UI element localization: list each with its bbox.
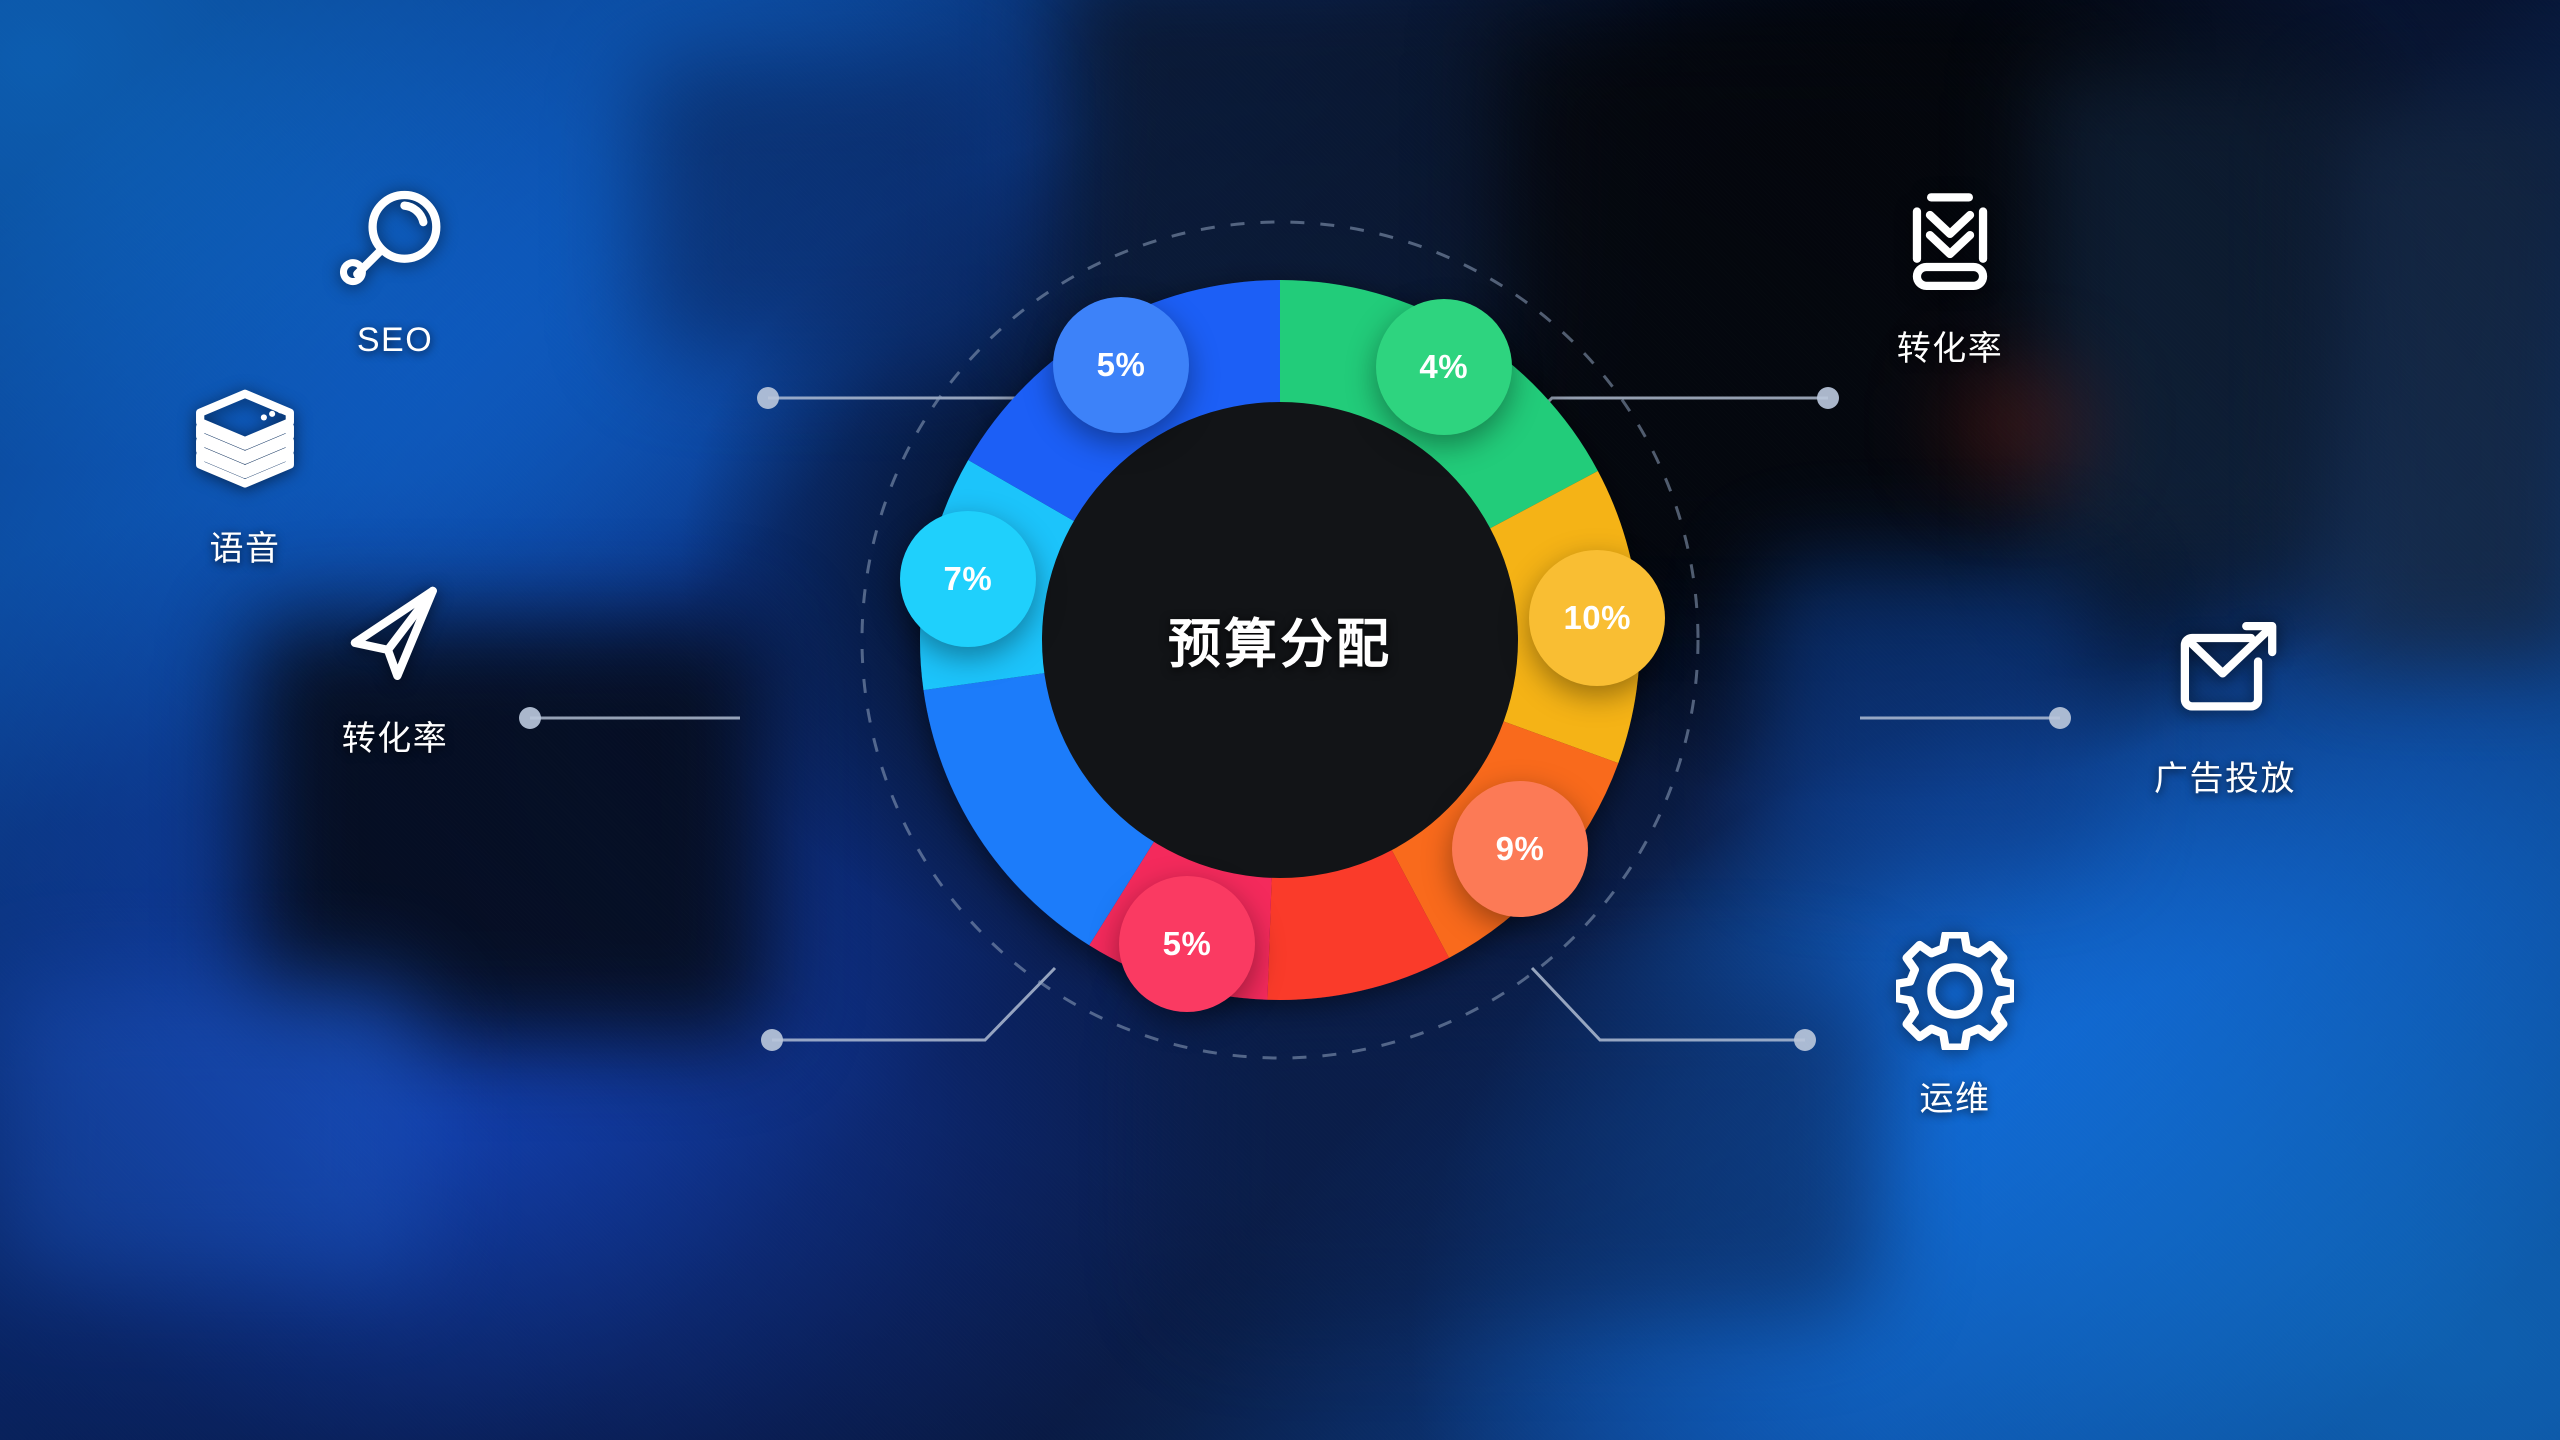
- spoke-item-conversion-right[interactable]: 转化率: [1820, 175, 2080, 370]
- segment-value-bubble[interactable]: 7%: [900, 511, 1036, 647]
- segment-value-bubble[interactable]: 9%: [1452, 781, 1588, 917]
- donut-chart[interactable]: 预算分配 4%10%9%5%7%5%: [780, 140, 1780, 1140]
- connector-dot: [2049, 707, 2071, 729]
- spoke-label: 语音: [210, 521, 281, 570]
- connector-dot: [1817, 387, 1839, 409]
- donut-hub: [1042, 402, 1518, 878]
- spoke-label: 广告投放: [2154, 751, 2296, 800]
- spoke-item-seo[interactable]: SEO: [265, 175, 525, 360]
- segment-value-bubble[interactable]: 5%: [1053, 297, 1189, 433]
- infographic-canvas: SEO 语音: [0, 0, 2560, 1440]
- spoke-item-ops[interactable]: 运维: [1825, 925, 2085, 1120]
- envelope-arrow-icon: [2159, 605, 2291, 737]
- connector-dot: [1794, 1029, 1816, 1051]
- spoke-item-voice[interactable]: 语音: [115, 375, 375, 570]
- paper-plane-icon: [329, 565, 461, 697]
- server-stack-icon: [179, 375, 311, 507]
- magnifier-icon: [329, 175, 461, 307]
- spoke-label: 转化率: [1897, 321, 2004, 370]
- segment-value-bubble[interactable]: 5%: [1119, 876, 1255, 1012]
- segment-value-bubble[interactable]: 10%: [1529, 550, 1665, 686]
- spoke-item-ads[interactable]: 广告投放: [2095, 605, 2355, 800]
- segment-value-bubble[interactable]: 4%: [1376, 299, 1512, 435]
- spoke-item-conversion-left[interactable]: 转化率: [265, 565, 525, 760]
- spoke-label: 转化率: [342, 711, 449, 760]
- gear-icon: [1889, 925, 2021, 1057]
- spoke-label: 运维: [1920, 1071, 1991, 1120]
- spoke-label: SEO: [357, 321, 433, 360]
- funnel-download-icon: [1884, 175, 2016, 307]
- connector-dot: [757, 387, 779, 409]
